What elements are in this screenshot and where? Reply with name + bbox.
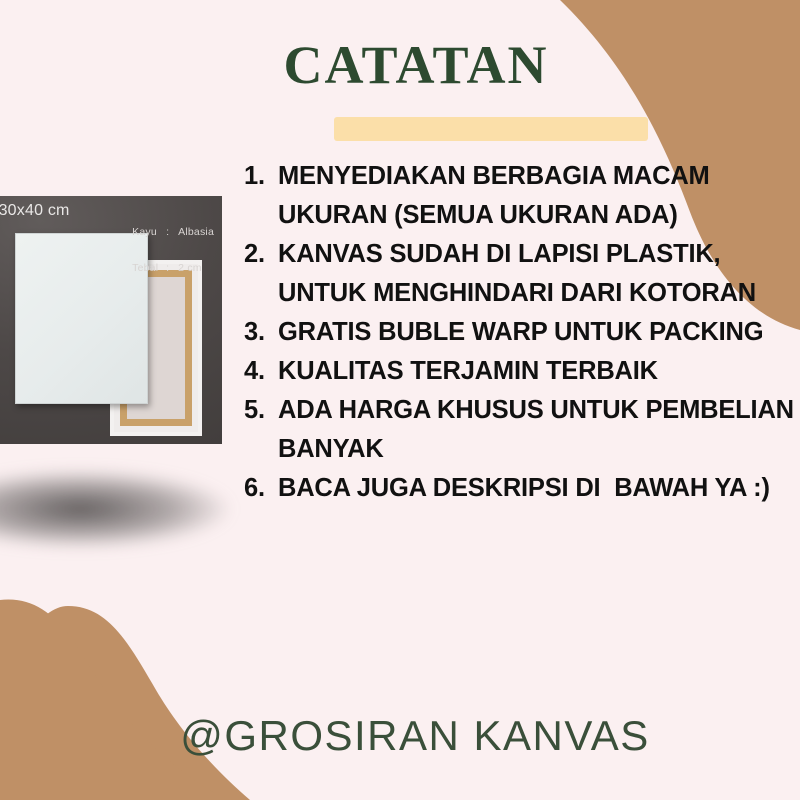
spec-row-tebal: Tebal : 2 cm — [132, 262, 214, 274]
list-item-number: 4. — [244, 352, 278, 391]
list-item-text: KANVAS SUDAH DI LAPISI PLASTIK, UNTUK ME… — [278, 235, 800, 313]
spec-row-kayu: Kayu : Albasia — [132, 226, 214, 238]
list-item-number: 2. — [244, 235, 278, 274]
list-item-number: 3. — [244, 313, 278, 352]
notes-list: 1. MENYEDIAKAN BERBAGIA MACAM UKURAN (SE… — [244, 157, 800, 508]
list-item-text: MENYEDIAKAN BERBAGIA MACAM UKURAN (SEMUA… — [278, 157, 800, 235]
bottom-left-blob-shape — [0, 606, 250, 800]
list-item: 3. GRATIS BUBLE WARP UNTUK PACKING — [244, 313, 800, 352]
list-item-text: GRATIS BUBLE WARP UNTUK PACKING — [278, 313, 800, 352]
list-item: 1. MENYEDIAKAN BERBAGIA MACAM UKURAN (SE… — [244, 157, 800, 235]
title-underline-bar — [334, 117, 648, 141]
list-item-number: 1. — [244, 157, 278, 196]
spec-sep-kayu: : — [166, 226, 178, 238]
list-item: 6. BACA JUGA DESKRIPSI DI BAWAH YA :) — [244, 469, 800, 508]
list-item: 5. ADA HARGA KHUSUS UNTUK PEMBELIAN BANY… — [244, 391, 800, 469]
shop-handle: @GROSIRAN KANVAS — [0, 712, 800, 760]
list-item: 2. KANVAS SUDAH DI LAPISI PLASTIK, UNTUK… — [244, 235, 800, 313]
product-size-label: ze: 30x40 cm — [0, 202, 70, 220]
product-photo-shadow — [0, 470, 230, 548]
product-specs: Kayu : Albasia Tebal : 2 cm — [132, 202, 214, 298]
spec-key-tebal: Tebal — [132, 262, 166, 274]
page-title: CATATAN — [0, 38, 800, 92]
poster-canvas: ze: 30x40 cm Kayu : Albasia Tebal : 2 cm… — [0, 0, 800, 800]
list-item-text: BACA JUGA DESKRIPSI DI BAWAH YA :) — [278, 469, 800, 508]
product-photo: ze: 30x40 cm Kayu : Albasia Tebal : 2 cm — [0, 196, 222, 444]
list-item-number: 5. — [244, 391, 278, 430]
spec-sep-tebal: : — [166, 262, 178, 274]
list-item: 4. KUALITAS TERJAMIN TERBAIK — [244, 352, 800, 391]
list-item-number: 6. — [244, 469, 278, 508]
spec-value-tebal: 2 cm — [178, 262, 202, 274]
list-item-text: ADA HARGA KHUSUS UNTUK PEMBELIAN BANYAK — [278, 391, 800, 469]
spec-key-kayu: Kayu — [132, 226, 166, 238]
list-item-text: KUALITAS TERJAMIN TERBAIK — [278, 352, 800, 391]
bottom-left-blob-shape-extension — [0, 600, 252, 800]
canvas-front-face — [15, 233, 148, 404]
spec-value-kayu: Albasia — [178, 226, 214, 238]
